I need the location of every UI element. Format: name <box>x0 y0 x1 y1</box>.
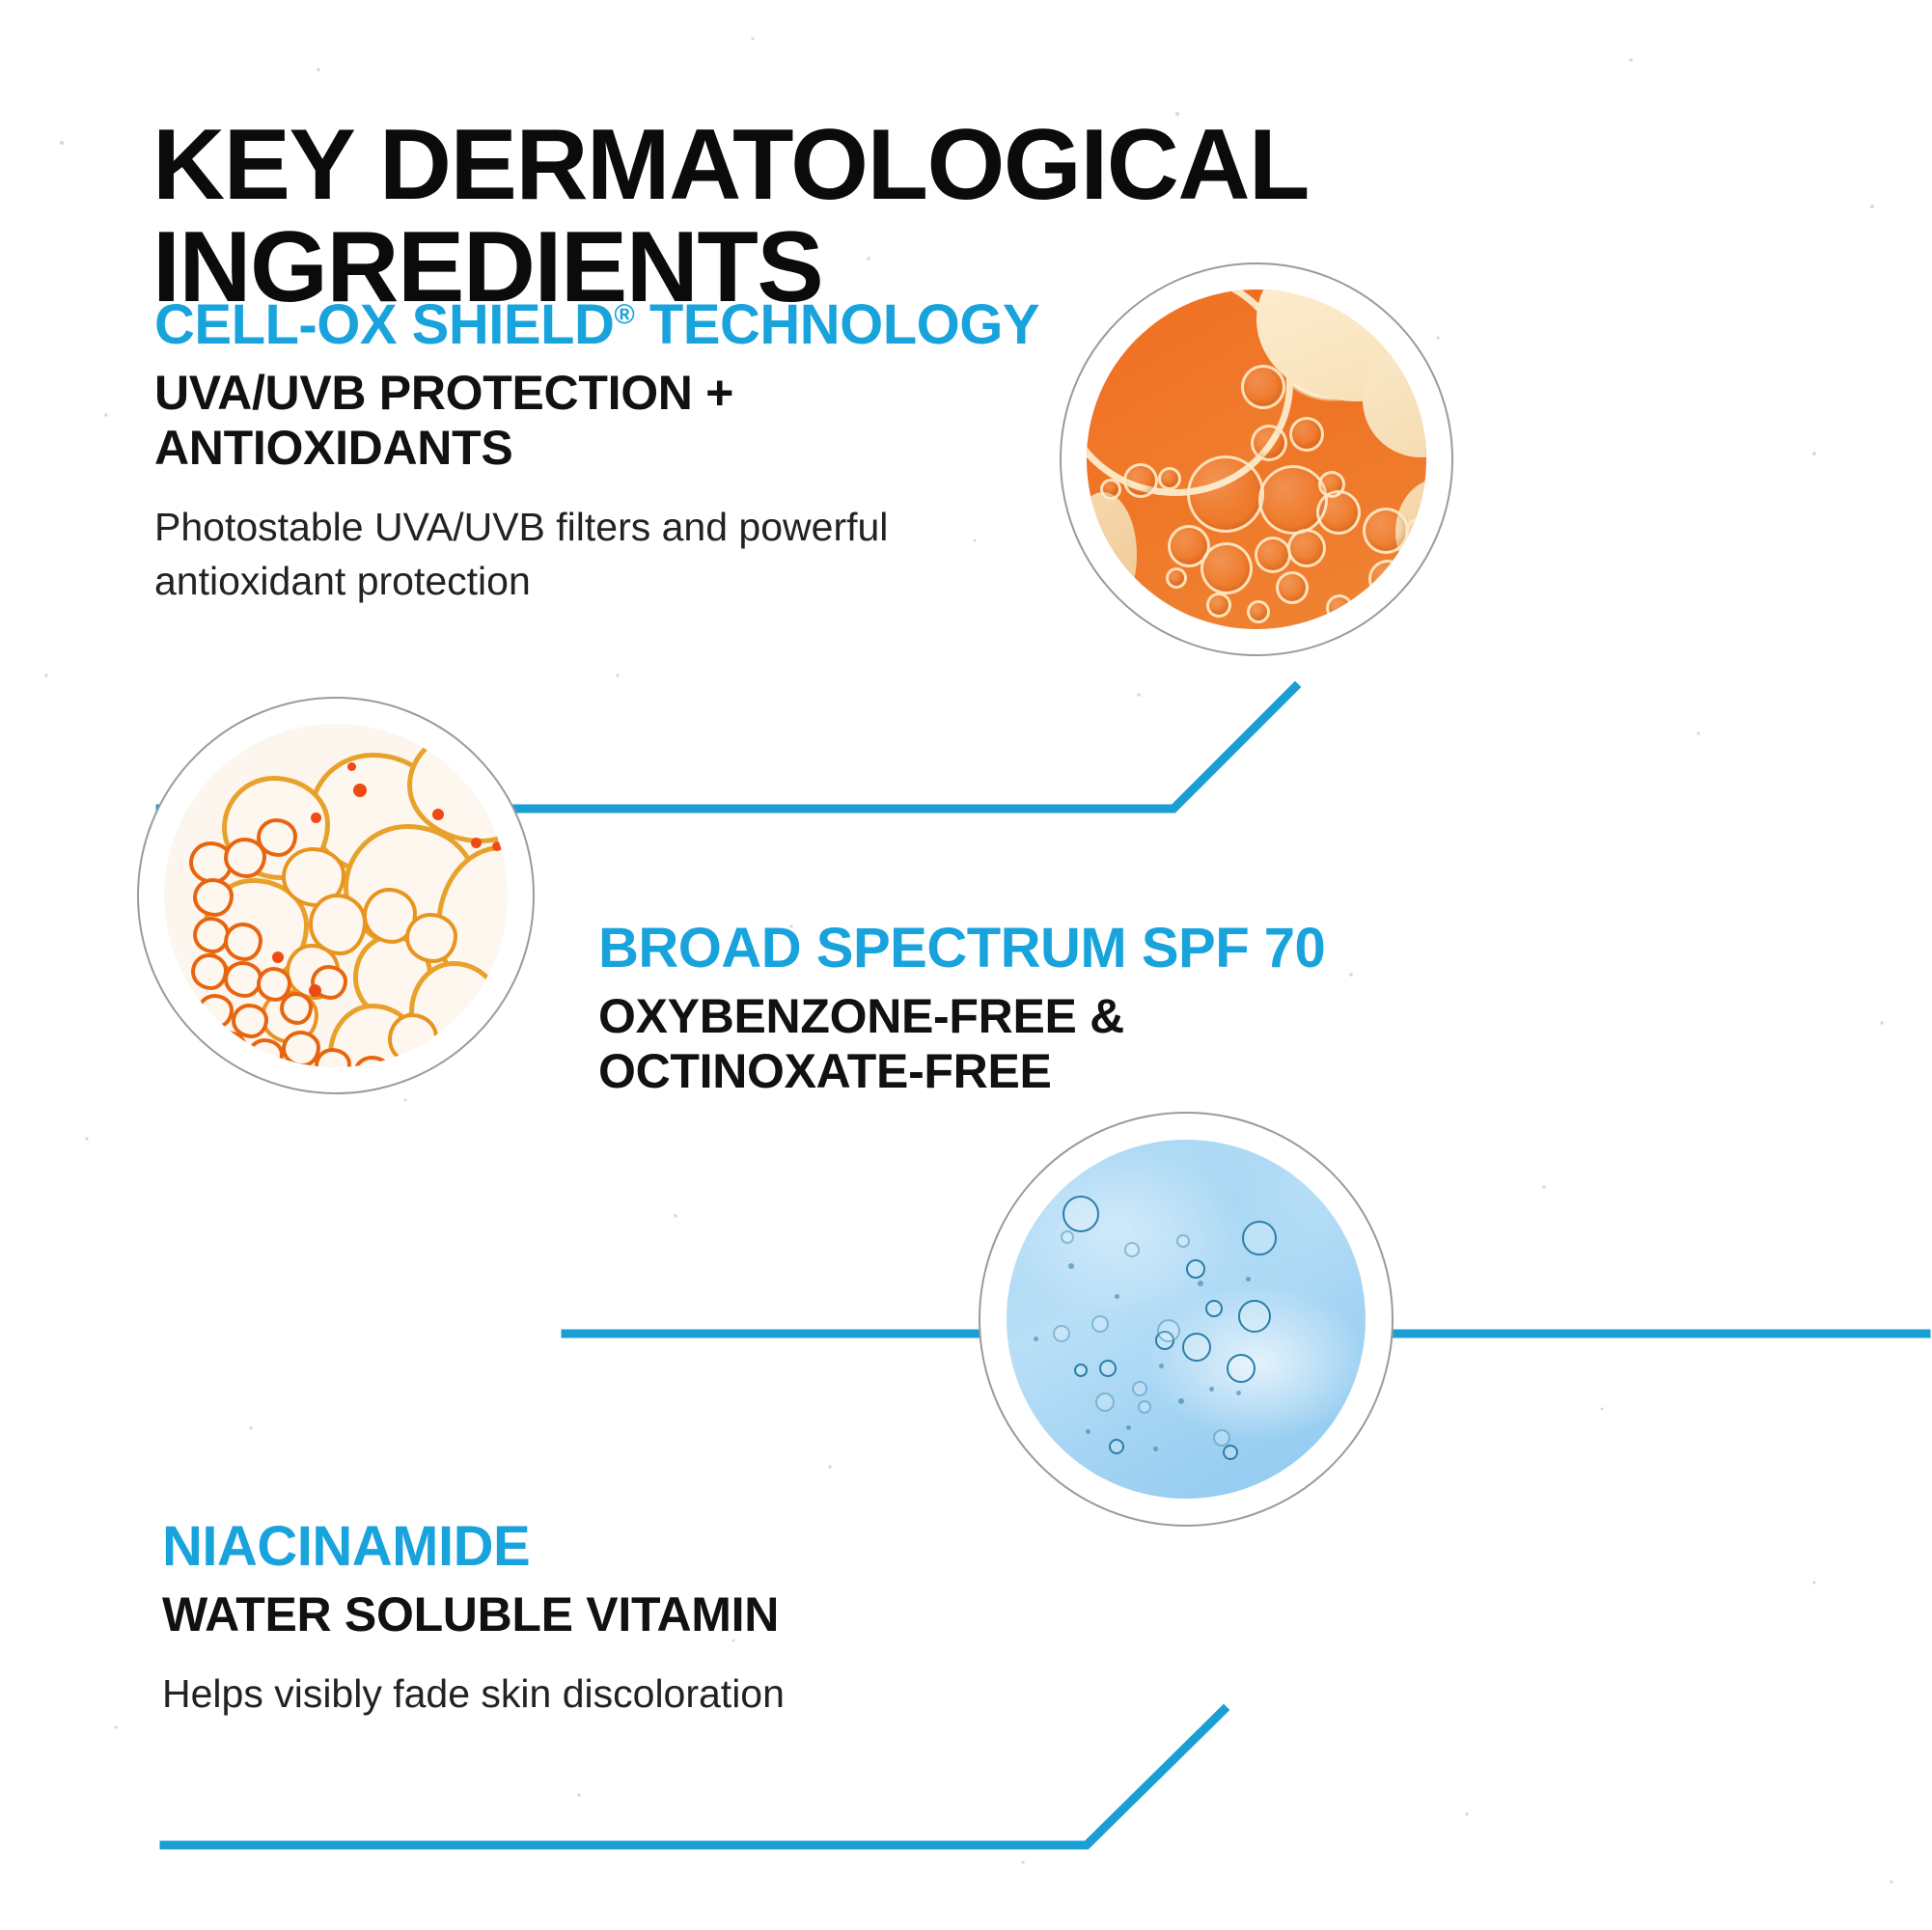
blue-gel-bubbles-swatch <box>979 1112 1394 1527</box>
section-3-sub-heading: WATER SOLUBLE VITAMIN <box>162 1587 1127 1642</box>
section-1-accent-heading-main: CELL-OX SHIELD <box>154 293 614 356</box>
orange-oil-bubbles-swatch <box>1060 262 1453 656</box>
connector-line-3 <box>164 1710 1224 1845</box>
section-1-accent-heading: CELL-OX SHIELD® TECHNOLOGY <box>154 295 1119 354</box>
section-2-text: BROAD SPECTRUM SPF 70 OXYBENZONE-FREE & … <box>598 919 1911 1099</box>
section-1-sub-heading-line-1: UVA/UVB PROTECTION + <box>154 366 1119 421</box>
section-1-text: CELL-OX SHIELD® TECHNOLOGY UVA/UVB PROTE… <box>154 295 1119 608</box>
section-3-accent-heading: NIACINAMIDE <box>162 1517 1127 1576</box>
section-3-body: Helps visibly fade skin discoloration <box>162 1668 992 1721</box>
section-2-sub-heading-line-1: OXYBENZONE-FREE & <box>598 989 1911 1044</box>
section-1-sub-heading: UVA/UVB PROTECTION + ANTIOXIDANTS <box>154 366 1119 476</box>
section-1-body: Photostable UVA/UVB filters and powerful… <box>154 501 946 608</box>
plant-cell-microscopy-image <box>164 724 508 1067</box>
orange-oil-bubbles-image <box>1087 289 1426 629</box>
section-2-accent-heading: BROAD SPECTRUM SPF 70 <box>598 919 1911 978</box>
section-3-text: NIACINAMIDE WATER SOLUBLE VITAMIN Helps … <box>162 1517 1127 1722</box>
section-1-sub-heading-line-2: ANTIOXIDANTS <box>154 421 1119 476</box>
section-2-sub-heading-line-2: OCTINOXATE-FREE <box>598 1044 1911 1099</box>
infographic-page: KEY DERMATOLOGICAL INGREDIENTS CELL-OX S… <box>0 0 1932 1930</box>
section-3-sub-heading-line-1: WATER SOLUBLE VITAMIN <box>162 1587 1127 1642</box>
section-1-accent-heading-tail: TECHNOLOGY <box>634 293 1039 356</box>
plant-cell-microscopy-swatch <box>137 697 535 1094</box>
blue-gel-bubbles-image <box>1007 1140 1366 1499</box>
registered-trademark-icon: ® <box>614 300 634 331</box>
section-2-sub-heading: OXYBENZONE-FREE & OCTINOXATE-FREE <box>598 989 1911 1099</box>
